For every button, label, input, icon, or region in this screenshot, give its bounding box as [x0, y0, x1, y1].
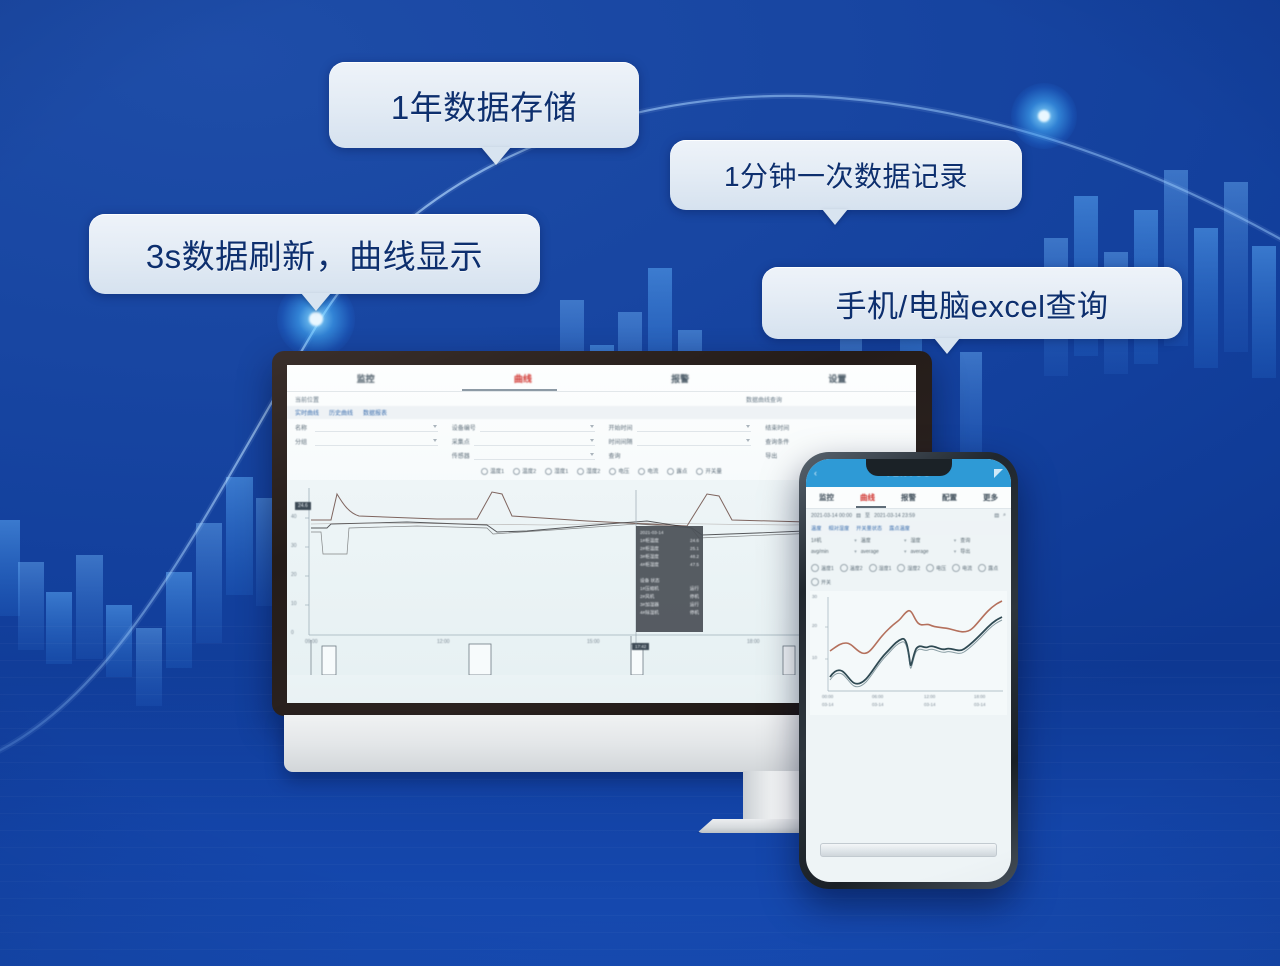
promo-banner: 监控 曲线 报警 设置 当前位置 数据曲线查询 实时曲线 历史曲线 数据报表 — [0, 0, 1280, 966]
phone-notch — [866, 459, 952, 476]
vignette-overlay — [0, 0, 1280, 966]
